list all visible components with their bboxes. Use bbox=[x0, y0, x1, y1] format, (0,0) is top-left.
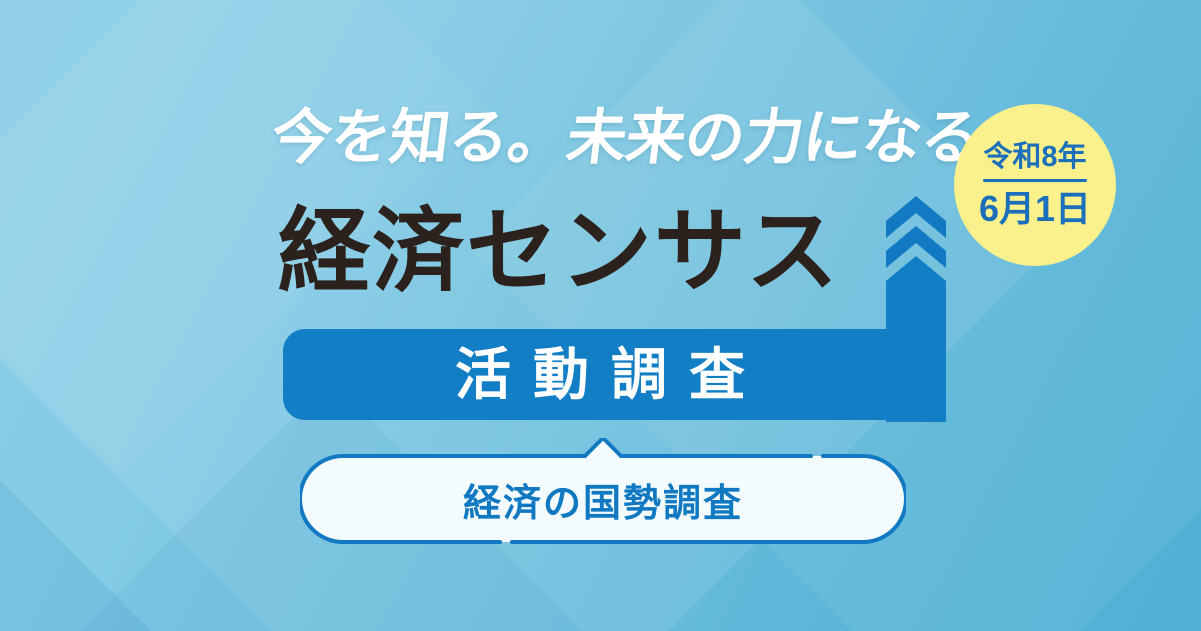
page-title: 経済センサス bbox=[278, 196, 840, 308]
subtitle-pill: 経済の国勢調査 bbox=[300, 438, 906, 544]
banner-label: 活動調査 bbox=[433, 347, 767, 403]
date-badge-era: 令和8年 bbox=[983, 143, 1086, 172]
date-badge: 令和8年 6月1日 bbox=[954, 104, 1116, 266]
campaign-banner: 今を知る。未来の力になる。 経済センサス 活動調査 経済の国勢調査 bbox=[0, 0, 1201, 631]
activity-survey-banner: 活動調査 bbox=[283, 329, 917, 420]
subtitle-pill-label: 経済の国勢調査 bbox=[300, 456, 906, 542]
date-badge-day: 6月1日 bbox=[979, 191, 1091, 227]
date-badge-divider bbox=[983, 179, 1087, 182]
tagline: 今を知る。未来の力になる。 bbox=[267, 98, 937, 178]
